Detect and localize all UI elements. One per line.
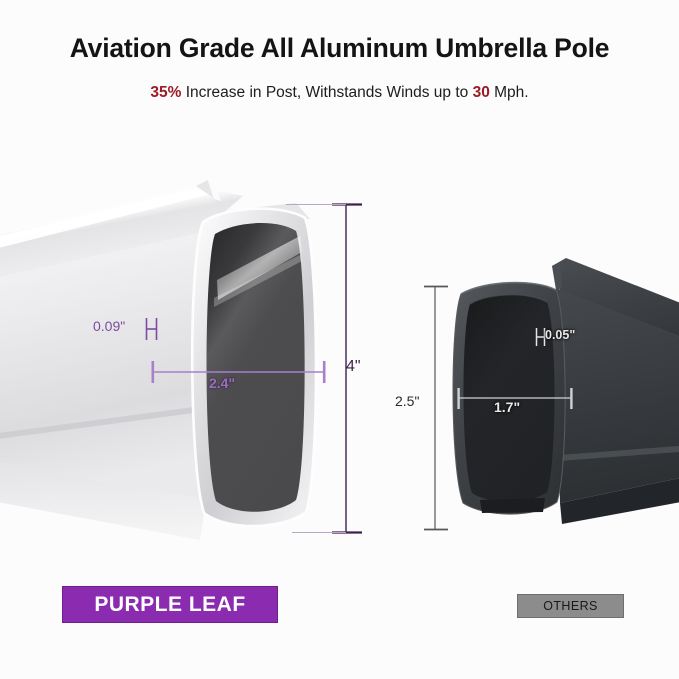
dimension-label-outer-height-right: 2.5": [395, 393, 419, 409]
dimension-label-wall-thickness-right: 0.05": [545, 328, 575, 342]
dimension-label-outer-height-left: 4": [346, 358, 361, 376]
brand-badge-purple-leaf: PURPLE LEAF: [62, 586, 278, 623]
product-comparison-illustration: 0.09" 2.4" 4" 0.05" 1.7" 2.5": [0, 0, 679, 679]
dimension-label-wall-thickness-left: 0.09": [93, 318, 125, 334]
brand-badge-others: OTHERS: [517, 594, 624, 618]
pole-cross-section-graphic: [0, 0, 679, 679]
infographic-canvas: Aviation Grade All Aluminum Umbrella Pol…: [0, 0, 679, 679]
purple-leaf-pole: [0, 180, 362, 540]
dimension-line-other-height: [424, 286, 448, 530]
others-pole: [424, 258, 679, 530]
other-pole-foot-slot: [480, 498, 545, 513]
dimension-label-inner-width-left: 2.4": [209, 375, 235, 391]
pole-side-face: [0, 233, 206, 500]
dimension-label-inner-width-right: 1.7": [494, 399, 520, 415]
